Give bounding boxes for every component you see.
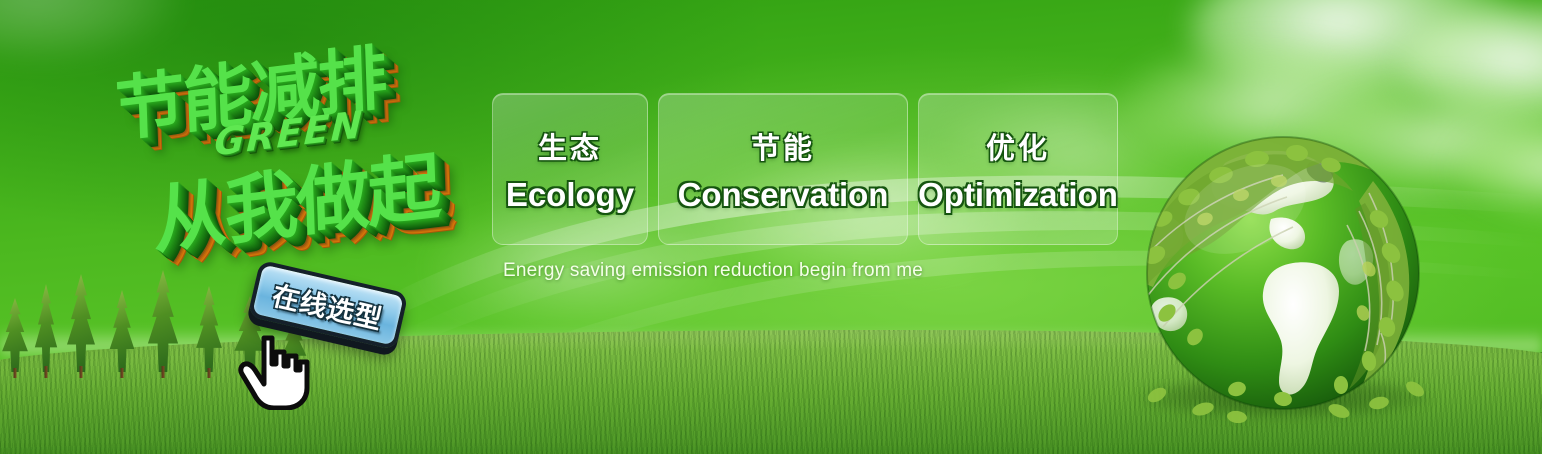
eco-promo-banner: 节能减排 GREEN 从我做起 在线选型 生态 Ecology 节能 Conse… xyxy=(0,0,1542,454)
cloud-icon xyxy=(1400,6,1542,126)
feature-card-label-cn: 生态 xyxy=(538,125,602,167)
feature-card-list: 生态 Ecology 节能 Conservation 优化 Optimizati… xyxy=(492,93,1118,245)
feature-card-label-cn: 节能 xyxy=(751,125,815,167)
headline-line-2: 从我做起 xyxy=(151,126,441,268)
feature-card-label-cn: 优化 xyxy=(986,125,1050,167)
pointing-hand-cursor-icon xyxy=(238,330,310,410)
feature-card-label-en: Ecology xyxy=(506,176,634,214)
feature-card-conservation[interactable]: 节能 Conservation xyxy=(658,93,908,245)
tagline-text: Energy saving emission reduction begin f… xyxy=(503,260,923,282)
feature-card-label-en: Optimization xyxy=(918,176,1118,214)
cloud-icon xyxy=(1455,120,1542,216)
feature-card-ecology[interactable]: 生态 Ecology xyxy=(492,93,648,245)
feature-card-optimization[interactable]: 优化 Optimization xyxy=(918,93,1118,245)
feature-card-label-en: Conservation xyxy=(678,176,889,214)
headline-3d-text: 节能减排 GREEN 从我做起 xyxy=(98,34,498,274)
leafy-green-globe-icon xyxy=(1133,123,1433,423)
cloud-icon xyxy=(1190,0,1520,104)
